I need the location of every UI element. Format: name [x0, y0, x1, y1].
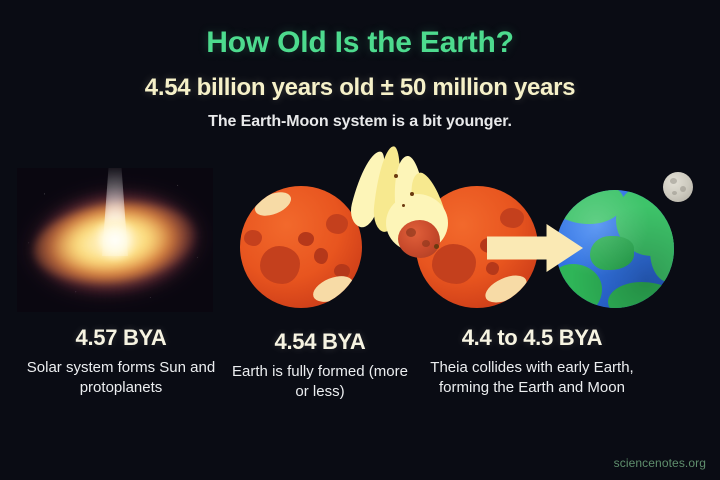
stage-caption-earth-formed: 4.54 BYA Earth is fully formed (more or …	[232, 329, 408, 402]
moon-icon	[663, 172, 693, 202]
infographic-canvas: How Old Is the Earth? 4.54 billion years…	[0, 0, 720, 480]
polar-cap-north	[252, 188, 295, 221]
page-title: How Old Is the Earth?	[0, 0, 720, 60]
caption-row: 4.57 BYA Solar system forms Sun and prot…	[0, 325, 720, 455]
comet-ember	[434, 244, 439, 249]
stage-era-label: 4.57 BYA	[8, 325, 234, 351]
stage-era-label: 4.4 to 4.5 BYA	[406, 325, 658, 351]
planet-surface-blotch	[500, 208, 524, 228]
comet-crater	[406, 228, 416, 237]
planet-surface-blotch	[260, 246, 300, 284]
stage-description: Theia collides with early Earth, forming…	[406, 351, 658, 398]
stage-era-label: 4.54 BYA	[232, 329, 408, 355]
polar-cap-south	[309, 271, 356, 307]
moon-crater	[680, 186, 686, 192]
moon-crater	[670, 178, 677, 184]
age-subtitle: 4.54 billion years old ± 50 million year…	[0, 60, 720, 102]
moon-crater	[672, 191, 677, 195]
tagline-text: The Earth-Moon system is a bit younger.	[0, 102, 720, 131]
theia-comet-icon	[336, 146, 466, 276]
comet-ember	[410, 192, 414, 196]
stage-description: Solar system forms Sun and protoplanets	[8, 351, 234, 398]
source-watermark: sciencenotes.org	[614, 456, 706, 470]
planet-surface-blotch	[486, 262, 499, 275]
polar-cap-south	[481, 270, 530, 308]
comet-rock-head	[398, 220, 440, 258]
comet-ember	[402, 204, 405, 207]
stage-caption-solar-system-forms: 4.57 BYA Solar system forms Sun and prot…	[8, 325, 234, 398]
comet-ember	[394, 174, 398, 178]
stage-description: Earth is fully formed (more or less)	[232, 355, 408, 402]
header-block: How Old Is the Earth? 4.54 billion years…	[0, 0, 720, 131]
stage-caption-theia-impact: 4.4 to 4.5 BYA Theia collides with early…	[406, 325, 658, 398]
planet-surface-blotch	[298, 232, 314, 246]
timeline-artwork	[0, 150, 720, 330]
planet-surface-blotch	[314, 248, 328, 264]
protostar-core	[92, 220, 138, 260]
planet-surface-blotch	[244, 230, 262, 246]
protoplanetary-disk-image	[17, 168, 213, 312]
comet-crater	[422, 240, 430, 247]
